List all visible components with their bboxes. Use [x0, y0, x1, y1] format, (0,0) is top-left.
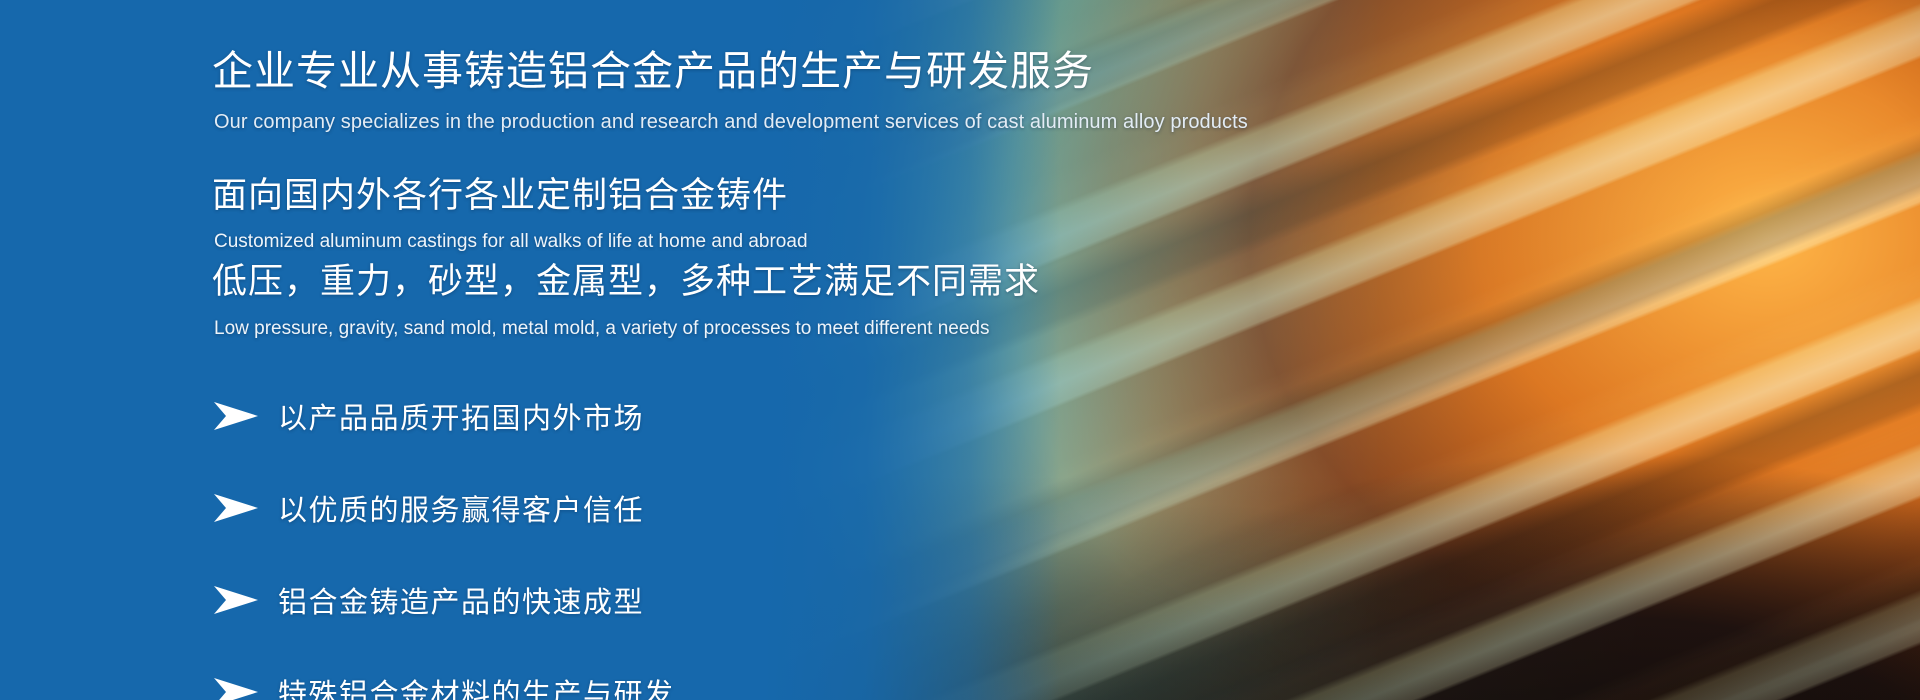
arrow-right-icon	[212, 401, 260, 431]
list-item[interactable]: 以产品品质开拓国内外市场	[212, 392, 912, 440]
headline-1-en: Our company specializes in the productio…	[214, 110, 1248, 134]
list-item-label: 特殊铝合金材料的生产与研发	[278, 671, 675, 700]
list-item[interactable]: 特殊铝合金材料的生产与研发	[212, 668, 912, 700]
list-item-label: 以优质的服务赢得客户信任	[278, 487, 644, 529]
headline-3-en: Low pressure, gravity, sand mold, metal …	[214, 318, 990, 340]
headline-2-en: Customized aluminum castings for all wal…	[214, 231, 808, 253]
list-item[interactable]: 以优质的服务赢得客户信任	[212, 484, 912, 532]
arrow-right-icon	[212, 677, 260, 700]
headline-3-cn: 低压，重力，砂型，金属型，多种工艺满足不同需求	[212, 262, 1040, 302]
hero-banner: 企业专业从事铸造铝合金产品的生产与研发服务 Our company specia…	[0, 0, 1920, 700]
list-item[interactable]: 铝合金铸造产品的快速成型	[212, 576, 912, 624]
arrow-right-icon	[212, 493, 260, 523]
list-item-label: 铝合金铸造产品的快速成型	[278, 579, 644, 621]
banner-content: 企业专业从事铸造铝合金产品的生产与研发服务 Our company specia…	[212, 0, 1512, 700]
arrow-right-icon	[212, 585, 260, 615]
feature-bullet-list: 以产品品质开拓国内外市场 以优质的服务赢得客户信任 铝合金铸造产品的快速成型 特…	[212, 392, 912, 700]
headline-2-cn: 面向国内外各行各业定制铝合金铸件	[212, 176, 788, 216]
headline-1-cn: 企业专业从事铸造铝合金产品的生产与研发服务	[212, 48, 1094, 95]
list-item-label: 以产品品质开拓国内外市场	[278, 395, 644, 437]
